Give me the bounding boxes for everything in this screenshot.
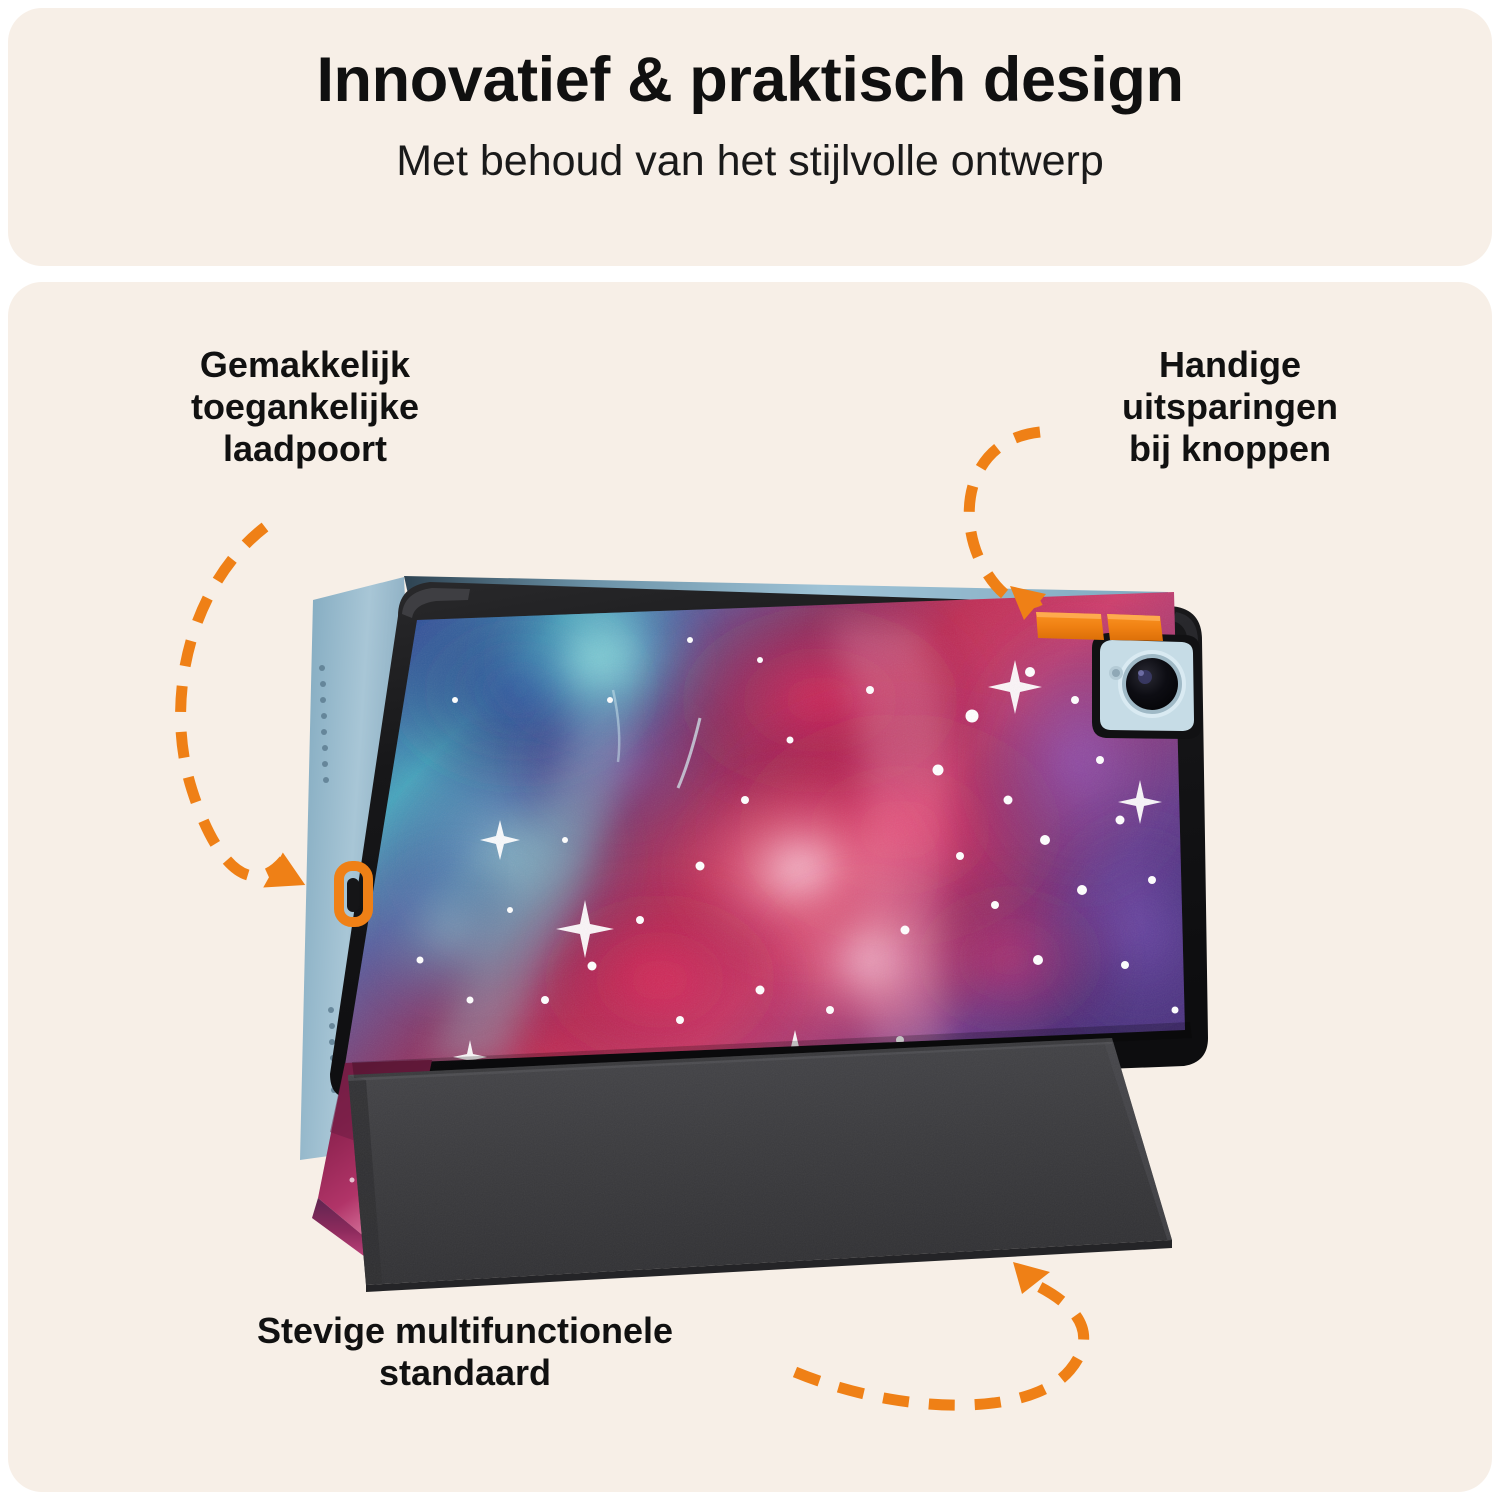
folding-stand	[312, 1038, 1172, 1292]
button-cutouts-highlight	[1036, 612, 1163, 641]
callout-label-stand: Stevige multifunctionelestandaard	[105, 1310, 825, 1394]
camera-cutout	[1092, 633, 1202, 739]
product-illustration	[0, 0, 1500, 1500]
callout-label-button-cutouts: Handigeuitsparingenbij knoppen	[1040, 344, 1420, 469]
callout-label-charging-port: Gemakkelijktoegankelijkelaadpoort	[95, 344, 515, 469]
